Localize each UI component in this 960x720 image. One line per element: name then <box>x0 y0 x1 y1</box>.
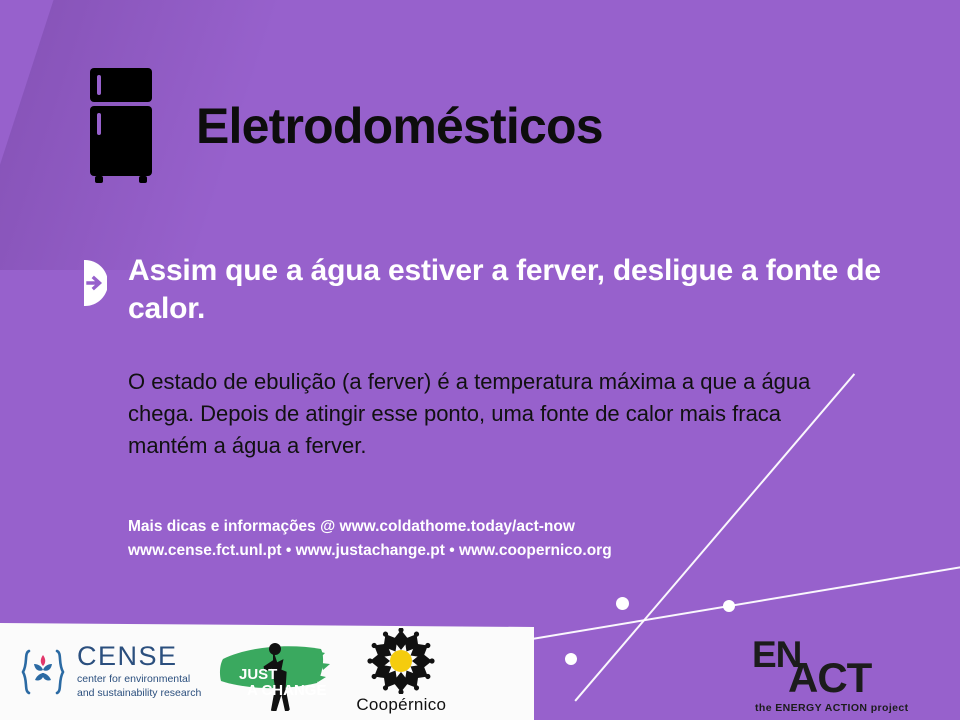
link-line-2[interactable]: www.cense.fct.unl.pt • www.justachange.p… <box>128 539 868 563</box>
enact-logo: EN ACT the ENERGY ACTION project <box>752 636 920 706</box>
decorative-line-shallow <box>520 562 960 641</box>
arrow-bullet-icon <box>84 260 107 306</box>
coopernico-logo: Coopérnico <box>347 628 455 716</box>
decorative-dot-1 <box>616 597 629 610</box>
cense-subtitle: center for environmental and sustainabil… <box>77 673 201 699</box>
cense-emblem-icon <box>18 647 68 697</box>
main-statement: Assim que a água estiver a ferver, desli… <box>128 252 918 328</box>
partner-logos: CENSE center for environmental and susta… <box>0 623 534 720</box>
coopernico-emblem-icon <box>365 628 437 694</box>
enact-tagline: the ENERGY ACTION project <box>755 702 909 714</box>
body-paragraph: O estado de ebulição (a ferver) é a temp… <box>128 366 858 462</box>
cense-title: CENSE <box>77 643 201 670</box>
decorative-dot-3 <box>565 653 577 665</box>
decorative-dot-2 <box>723 600 735 612</box>
just-a-change-emblem-icon: JUST A CHANGE <box>217 633 335 711</box>
link-line-1[interactable]: Mais dicas e informações @ www.coldathom… <box>128 515 868 539</box>
cense-subtitle-line1: center for environmental <box>77 673 201 686</box>
just-a-change-logo: JUST A CHANGE <box>217 633 335 711</box>
cense-subtitle-line2: and sustainability research <box>77 687 201 700</box>
cense-logo: CENSE center for environmental and susta… <box>18 643 201 699</box>
jac-word-change: A CHANGE <box>247 682 326 699</box>
jac-word-just: JUST <box>239 666 277 683</box>
refrigerator-icon <box>86 68 158 184</box>
coopernico-name: Coopérnico <box>356 695 446 715</box>
links-block: Mais dicas e informações @ www.coldathom… <box>128 515 868 563</box>
page-title: Eletrodomésticos <box>196 101 603 151</box>
enact-part-act: ACT <box>788 657 871 699</box>
slide-canvas: Eletrodomésticos Assim que a água estive… <box>0 0 960 720</box>
